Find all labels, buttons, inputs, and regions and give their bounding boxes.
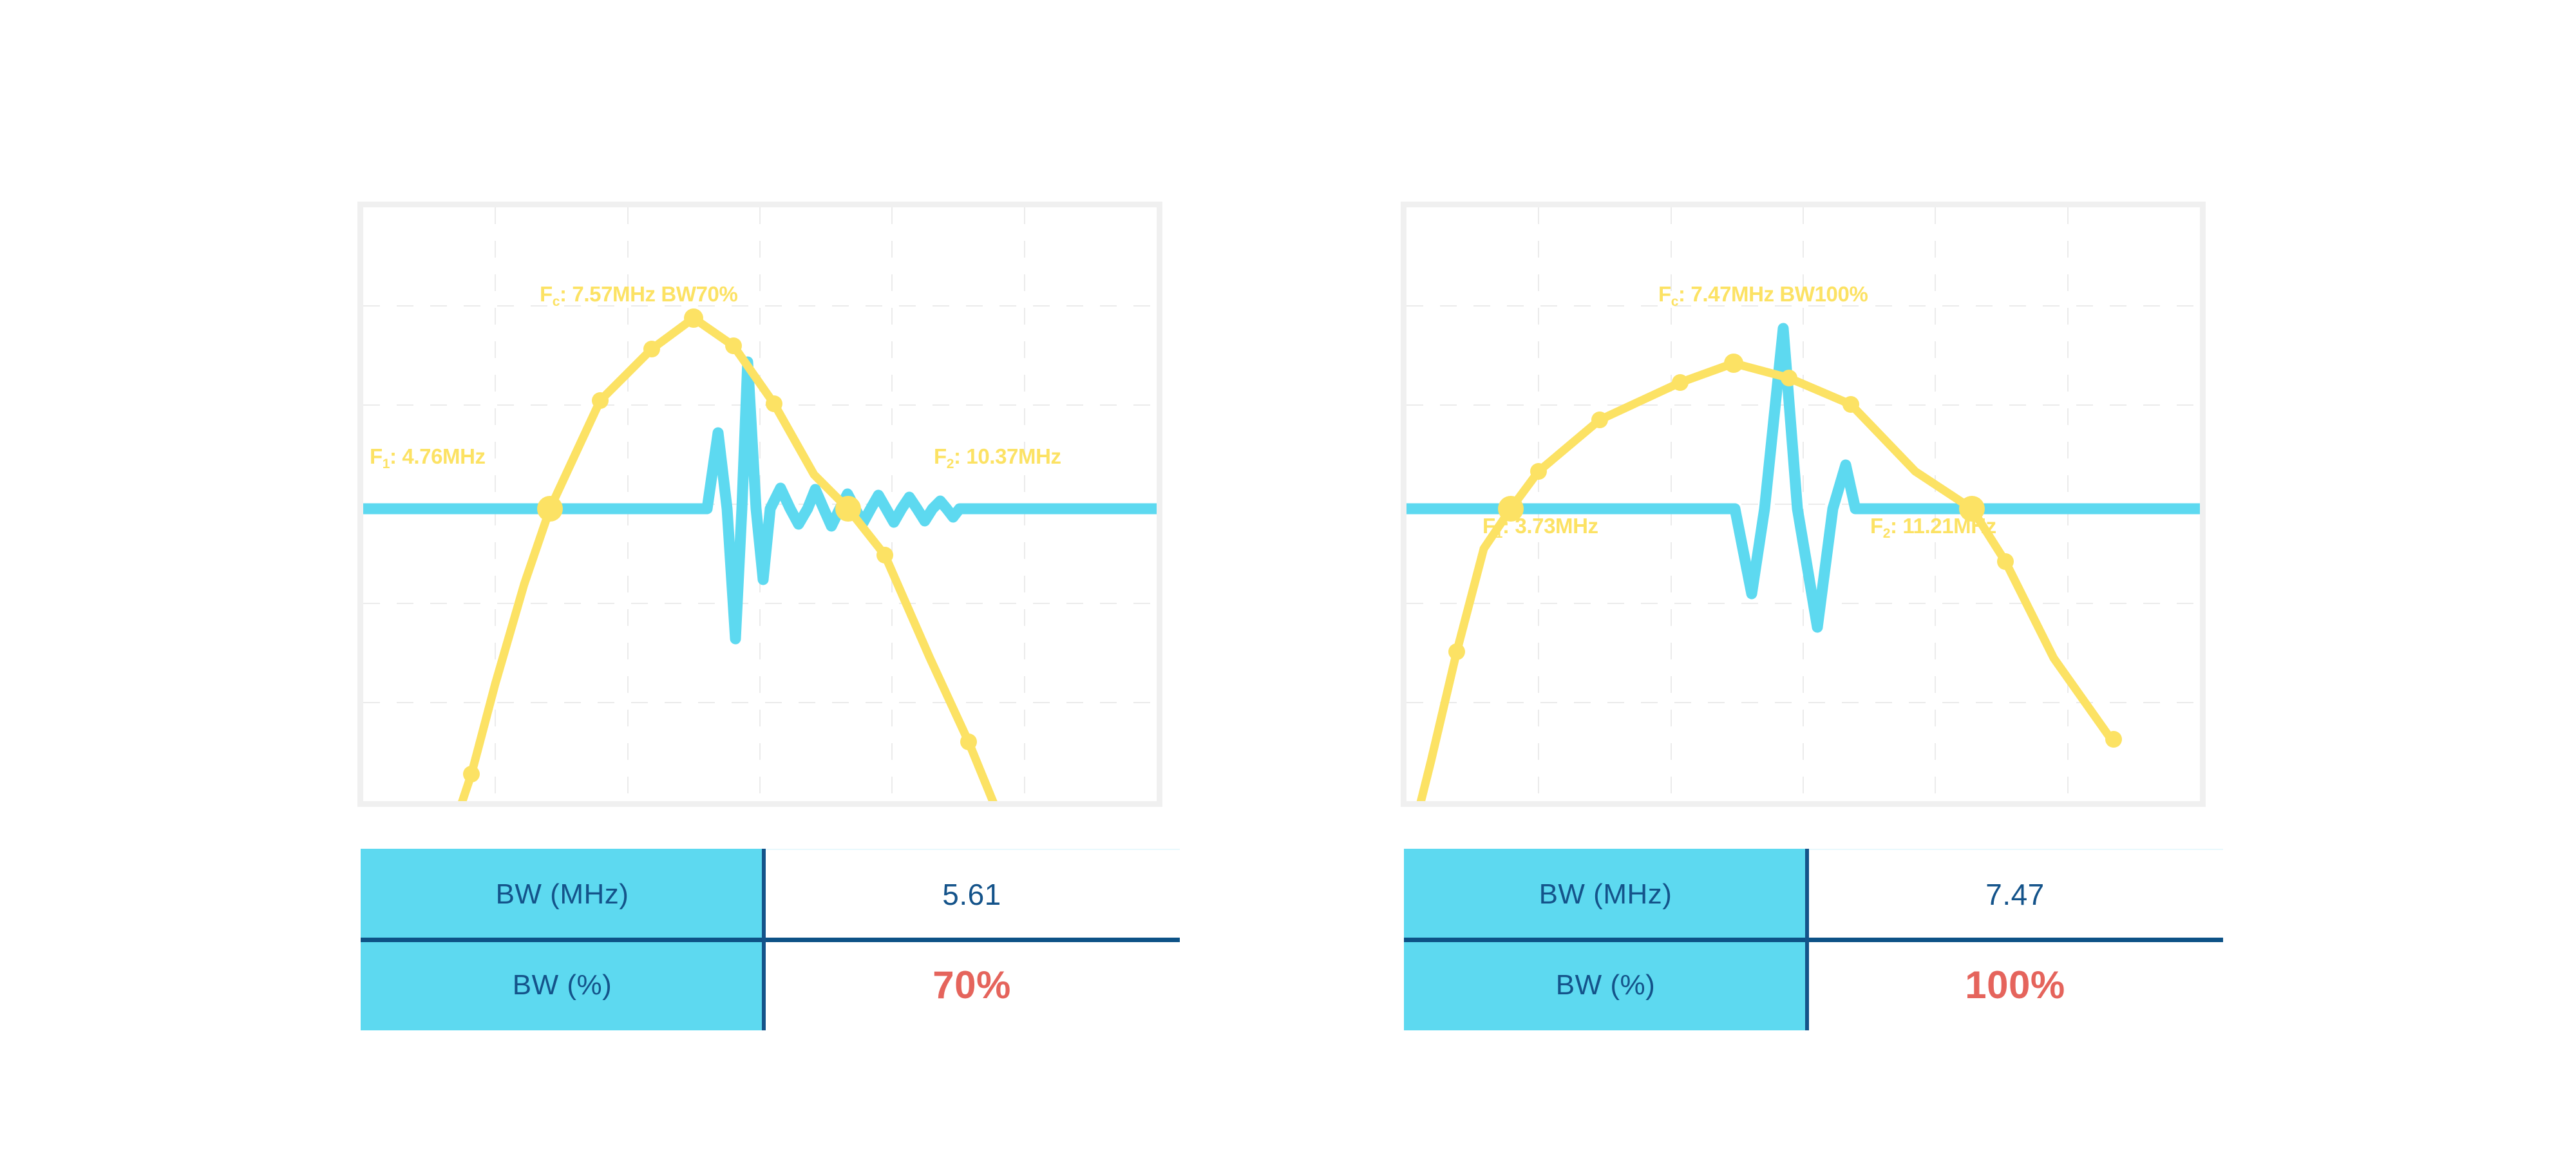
annot-text: : 4.76MHz — [390, 444, 486, 468]
table-row: BW (MHz) 7.47 — [1404, 849, 2223, 940]
annotation-f1-left: F1: 4.76MHz — [370, 446, 486, 467]
panel-bandwidth-100: Fc: 7.47MHz BW100% F1: 3.73MHz F2: 11.21… — [1043, 0, 2331, 1154]
annot-sub: c — [1671, 294, 1678, 309]
rf-pulse-trace-left — [363, 362, 1157, 639]
annotation-center-frequency-right: Fc: 7.47MHz BW100% — [1658, 283, 1868, 305]
table-row: BW (%) 100% — [1404, 940, 2223, 1030]
traces-left — [363, 207, 1157, 801]
table-header-label: BW (MHz) — [1539, 878, 1672, 911]
annotation-f1-right: F1: 3.73MHz — [1482, 515, 1598, 536]
annot-text: : 3.73MHz — [1502, 514, 1598, 538]
annot-text: : 7.47MHz BW100% — [1678, 282, 1868, 306]
annot-prefix: F — [1870, 514, 1883, 538]
table-header-cell-bw-percent: BW (%) — [1404, 940, 1807, 1030]
annot-sub: 1 — [1495, 526, 1502, 541]
annot-sub: c — [553, 294, 560, 309]
table-header-cell-bw-percent: BW (%) — [361, 940, 764, 1030]
rf-pulse-trace-right — [1406, 328, 2200, 627]
annotation-center-frequency-left: Fc: 7.57MHz BW70% — [540, 283, 737, 305]
plot-area-left — [357, 202, 1162, 807]
table-value-text: 7.47 — [1985, 877, 2045, 912]
figure-canvas: Fc: 7.57MHz BW70% F1: 4.76MHz F2: 10.37M… — [0, 0, 2576, 1154]
table-value-cell-bw-percent: 100% — [1807, 940, 2223, 1030]
table-horizontal-divider — [1404, 938, 2223, 942]
table-vertical-divider — [1805, 849, 1809, 1030]
annot-prefix: F — [540, 282, 553, 306]
annot-text: : 7.57MHz BW70% — [560, 282, 737, 306]
table-top-hairline — [1807, 849, 2223, 850]
annot-sub: 2 — [1883, 526, 1890, 541]
table-header-label: BW (%) — [1556, 969, 1656, 1001]
table-header-cell-bw-mhz: BW (MHz) — [361, 849, 764, 940]
table-value-text: 70% — [933, 963, 1011, 1007]
table-value-text: 100% — [1965, 963, 2065, 1007]
spectrum-trace-right — [1418, 363, 2115, 801]
annot-text: : 11.21MHz — [1890, 514, 1996, 538]
table-value-text: 5.61 — [942, 877, 1001, 912]
annot-prefix: F — [1658, 282, 1671, 306]
annot-prefix: F — [1482, 514, 1495, 538]
annot-sub: 2 — [947, 457, 954, 471]
annot-prefix: F — [370, 444, 383, 468]
table-value-cell-bw-mhz: 7.47 — [1807, 849, 2223, 940]
annotation-f2-right: F2: 11.21MHz — [1870, 515, 1996, 536]
table-header-label: BW (MHz) — [496, 878, 629, 911]
table-vertical-divider — [762, 849, 766, 1030]
annotation-f2-left: F2: 10.37MHz — [934, 446, 1061, 467]
table-header-label: BW (%) — [513, 969, 612, 1001]
table-header-cell-bw-mhz: BW (MHz) — [1404, 849, 1807, 940]
annot-sub: 1 — [383, 457, 390, 471]
annot-prefix: F — [934, 444, 947, 468]
bandwidth-table-right: BW (MHz) 7.47 BW (%) 100% — [1404, 849, 2223, 1030]
